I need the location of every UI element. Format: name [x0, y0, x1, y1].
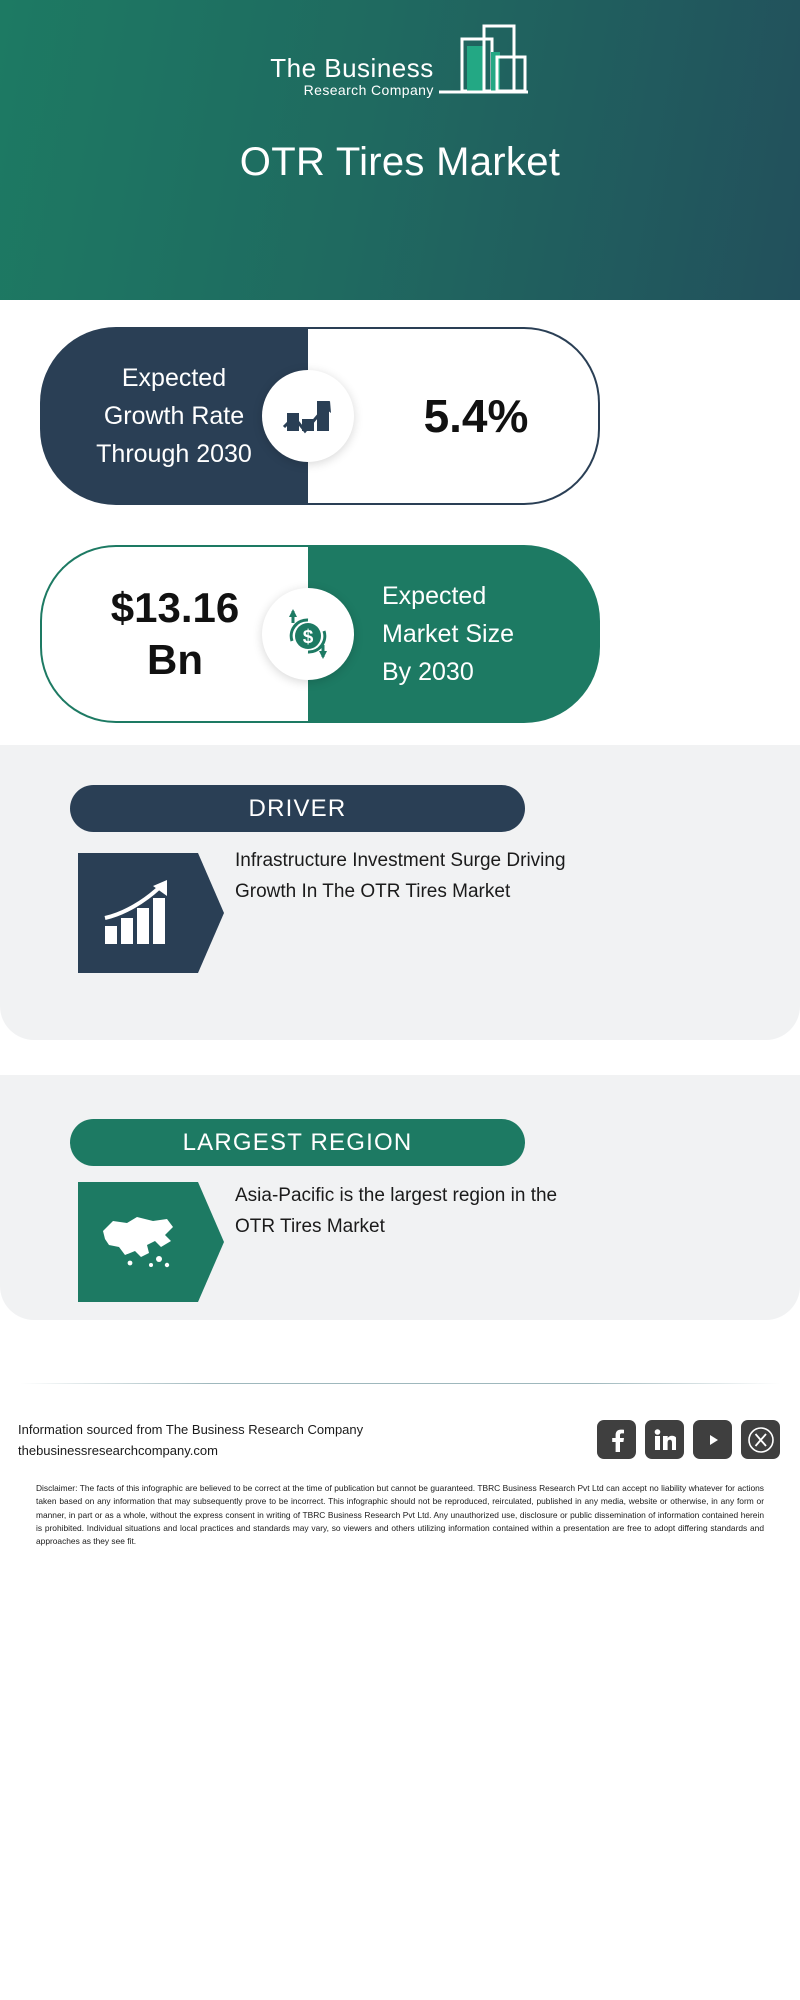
page-title: OTR Tires Market: [0, 140, 800, 185]
logo-text: The Business Research Company: [270, 55, 434, 103]
growth-rate-label-line2: Growth Rate: [104, 397, 244, 435]
driver-pill: DRIVER: [70, 785, 525, 832]
growth-rate-value: 5.4%: [378, 389, 529, 443]
company-logo: The Business Research Company: [0, 22, 800, 103]
driver-description: Infrastructure Investment Surge Driving …: [235, 845, 575, 908]
bar-chart-logo-mark: [436, 22, 530, 103]
largest-region-description: Asia-Pacific is the largest region in th…: [235, 1180, 575, 1243]
source-line-1: Information sourced from The Business Re…: [18, 1419, 363, 1440]
asia-pacific-map-icon: [78, 1182, 198, 1302]
growth-rate-label-line1: Expected: [122, 359, 226, 397]
footer-divider: [20, 1383, 780, 1384]
social-links: [597, 1420, 780, 1459]
growth-bars-arrow-icon: [78, 853, 198, 973]
market-size-label-line2: Market Size: [382, 615, 600, 653]
driver-arrow-tip: [198, 853, 224, 973]
dollar-cycle-icon: $: [262, 588, 354, 680]
driver-pill-label: DRIVER: [249, 795, 347, 823]
logo-secondary-text: Research Company: [270, 82, 434, 99]
facebook-icon[interactable]: [597, 1420, 636, 1459]
market-size-unit: Bn: [147, 634, 203, 687]
x-twitter-icon[interactable]: [741, 1420, 780, 1459]
region-arrow-tip: [198, 1182, 224, 1302]
source-line-2[interactable]: thebusinessresearchcompany.com: [18, 1440, 363, 1461]
svg-text:$: $: [303, 627, 314, 648]
youtube-icon[interactable]: [693, 1420, 732, 1459]
stat-card-growth-rate: Expected Growth Rate Through 2030 5.4%: [40, 327, 600, 505]
growth-rate-label-line3: Through 2030: [96, 435, 252, 473]
stat-card-market-size: $13.16 Bn Expected Market Size By 2030 $: [40, 545, 600, 723]
source-attribution: Information sourced from The Business Re…: [18, 1419, 363, 1461]
largest-region-pill-label: LARGEST REGION: [183, 1129, 413, 1157]
logo-primary-text: The Business: [270, 55, 434, 82]
growth-chart-icon: [262, 370, 354, 462]
header-banner: The Business Research Company OTR Tires …: [0, 0, 800, 300]
market-size-label-line1: Expected: [382, 577, 600, 615]
market-size-amount: $13.16: [111, 582, 239, 635]
linkedin-icon[interactable]: [645, 1420, 684, 1459]
market-size-label-line3: By 2030: [382, 653, 600, 691]
largest-region-pill: LARGEST REGION: [70, 1119, 525, 1166]
disclaimer-text: Disclaimer: The facts of this infographi…: [36, 1482, 764, 1548]
